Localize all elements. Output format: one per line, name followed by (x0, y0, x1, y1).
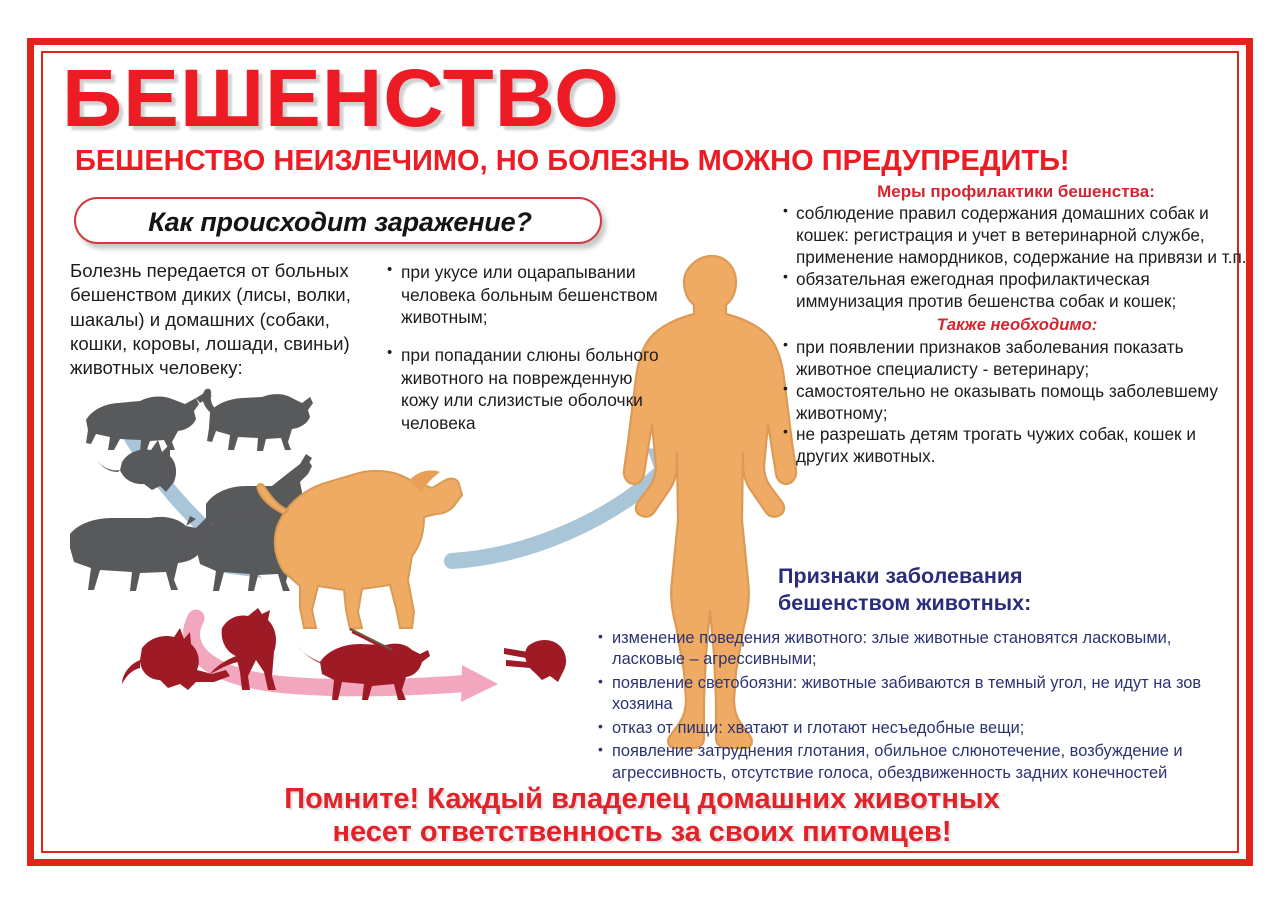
list-item: при попадании слюны больного животного н… (386, 344, 668, 435)
infection-bullet-list: при укусе или оцарапывании человека боль… (386, 261, 668, 449)
list-item: изменение поведения животного: злые живо… (596, 628, 1216, 671)
infection-paragraph: Болезнь передается от больных бешенством… (70, 259, 382, 381)
page-subtitle: БЕШЕНСТВО НЕИЗЛЕЧИМО, НО БОЛЕЗНЬ МОЖНО П… (75, 146, 1070, 176)
footer-line-2: несет ответственность за своих питомцев! (62, 816, 1222, 849)
list-item: обязательная ежегодная профилактическая … (782, 269, 1252, 313)
signs-heading-line2: бешенством животных: (778, 590, 1078, 617)
list-item: при укусе или оцарапывании человека боль… (386, 261, 668, 329)
signs-list: изменение поведения животного: злые живо… (596, 628, 1216, 786)
list-item: не разрешать детям трогать чужих собак, … (782, 424, 1252, 468)
list-item: появление затруднения глотания, обильное… (596, 741, 1216, 784)
prevention-also-heading: Также необходимо: (782, 313, 1252, 337)
page-title: БЕШЕНСТВО (62, 58, 620, 140)
list-item: отказ от пищи: хватают и глотают несъедо… (596, 718, 1216, 739)
list-item: самостоятельно не оказывать помощь забол… (782, 381, 1252, 425)
signs-heading-line1: Признаки заболевания (778, 563, 1078, 590)
list-item: соблюдение правил содержания домашних со… (782, 203, 1252, 269)
footer-line-1: Помните! Каждый владелец домашних животн… (62, 783, 1222, 816)
prevention-list: соблюдение правил содержания домашних со… (782, 203, 1252, 468)
footer-callout: Помните! Каждый владелец домашних животн… (62, 783, 1222, 849)
list-item: появление светобоязни: животные забивают… (596, 673, 1216, 716)
list-item: при появлении признаков заболевания пока… (782, 337, 1252, 381)
prevention-heading: Меры профилактики бешенства: (782, 182, 1250, 202)
signs-heading: Признаки заболевания бешенством животных… (778, 563, 1078, 618)
infection-question-label: Как происходит заражение? (76, 199, 604, 246)
infection-question-box: Как происходит заражение? (74, 197, 602, 244)
rabies-poster: БЕШЕНСТВО БЕШЕНСТВО НЕИЗЛЕЧИМО, НО БОЛЕЗ… (0, 0, 1280, 905)
